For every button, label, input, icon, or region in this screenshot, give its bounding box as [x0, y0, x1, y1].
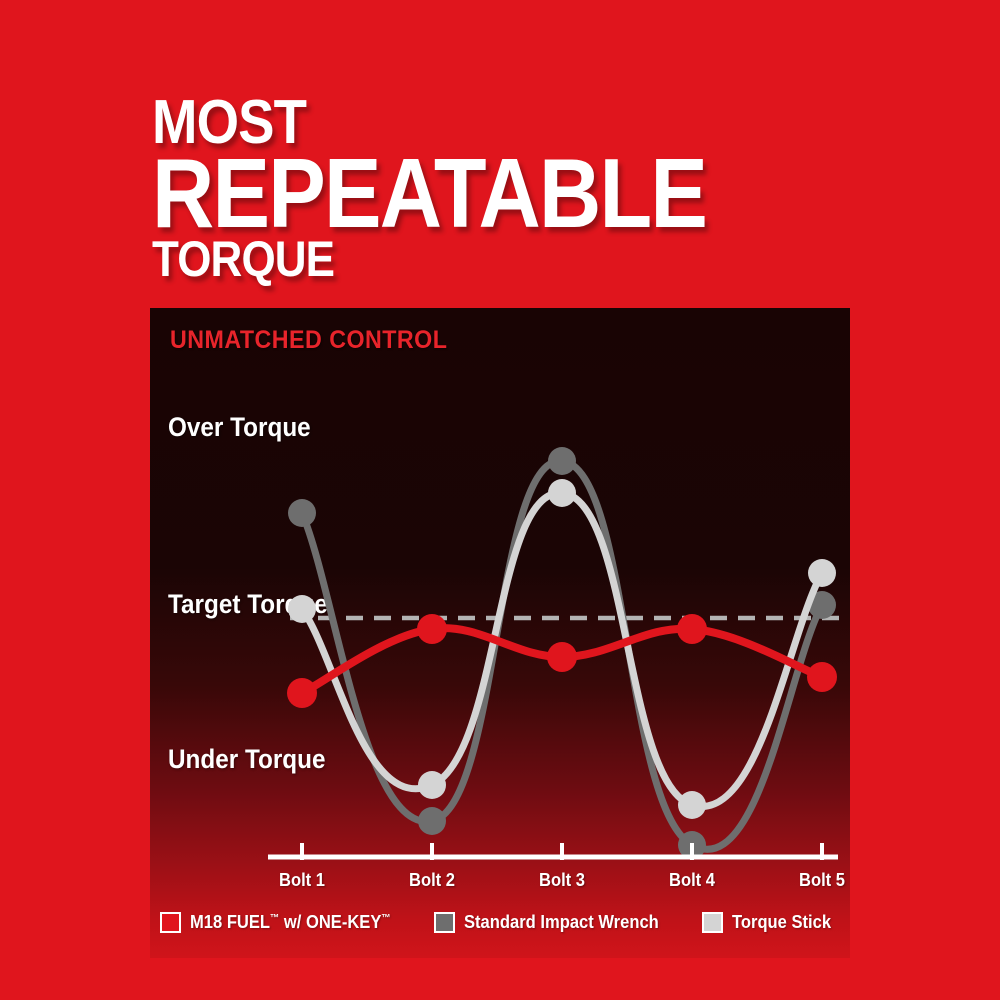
- data-point-marker: [418, 771, 446, 799]
- chart-legend: M18 FUEL™ w/ ONE-KEY™Standard Impact Wre…: [150, 912, 850, 933]
- data-point-marker: [678, 791, 706, 819]
- data-point-marker: [287, 678, 317, 708]
- legend-swatch-standard-impact-wrench: [434, 912, 455, 933]
- data-point-marker: [417, 614, 447, 644]
- data-point-marker: [677, 614, 707, 644]
- headline-block: MOST REPEATABLE TORQUE: [152, 96, 912, 281]
- legend-swatch-torque-stick: [702, 912, 723, 933]
- x-tick-label-bolt-4: Bolt 4: [669, 870, 715, 891]
- data-point-marker: [548, 479, 576, 507]
- data-point-marker: [418, 807, 446, 835]
- legend-label: M18 FUEL™ w/ ONE-KEY™: [190, 912, 391, 933]
- x-tick-label-bolt-3: Bolt 3: [539, 870, 585, 891]
- legend-item-standard-impact-wrench[interactable]: Standard Impact Wrench: [434, 912, 676, 933]
- x-tick-label-bolt-2: Bolt 2: [409, 870, 455, 891]
- headline-line-torque: TORQUE: [152, 238, 821, 281]
- x-axis: [268, 843, 838, 860]
- data-point-marker: [807, 662, 837, 692]
- x-tick-label-bolt-1: Bolt 1: [279, 870, 325, 891]
- headline-line-repeatable: REPEATABLE: [152, 151, 821, 235]
- legend-label: Torque Stick: [732, 912, 831, 933]
- x-tick-label-bolt-5: Bolt 5: [799, 870, 845, 891]
- legend-label: Standard Impact Wrench: [464, 912, 659, 933]
- legend-item-torque-stick[interactable]: Torque Stick: [702, 912, 840, 933]
- legend-swatch-m18-fuel: [160, 912, 181, 933]
- series-layer: [287, 447, 837, 859]
- chart-panel: UNMATCHED CONTROL Over Torque Target Tor…: [150, 308, 850, 958]
- data-point-marker: [288, 499, 316, 527]
- plot-area: [150, 308, 850, 958]
- series-m18-fuel: [287, 614, 837, 708]
- data-point-marker: [547, 642, 577, 672]
- data-point-marker: [548, 447, 576, 475]
- data-point-marker: [288, 595, 316, 623]
- legend-item-m18-fuel[interactable]: M18 FUEL™ w/ ONE-KEY™: [160, 912, 408, 933]
- data-point-marker: [808, 559, 836, 587]
